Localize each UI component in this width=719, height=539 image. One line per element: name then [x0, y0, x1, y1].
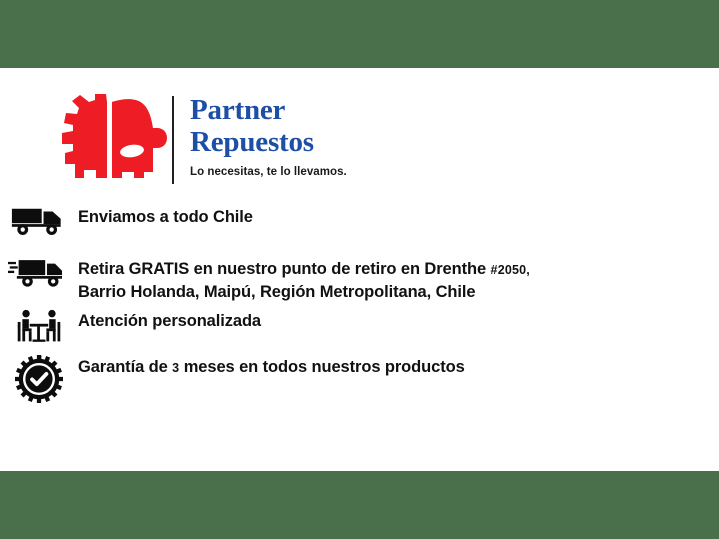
brand-logo-block: Partner Repuestos Lo necesitas, te lo ll… [60, 92, 480, 192]
gear-car-logo-icon [60, 94, 168, 186]
delivery-truck-icon [0, 205, 78, 236]
feature-row-shipping: Enviamos a todo Chile [0, 205, 719, 259]
bottom-green-band [0, 471, 719, 539]
logo-divider [172, 96, 174, 184]
brand-tagline: Lo necesitas, te lo llevamos. [190, 165, 347, 179]
warranty-text-suffix: meses en todos nuestros productos [179, 358, 464, 376]
warranty-badge-check-icon [0, 355, 78, 403]
warranty-text-prefix: Garantía de [78, 358, 172, 376]
feature-text-support: Atención personalizada [78, 309, 261, 332]
pickup-line-1-main: Retira GRATIS en nuestro punto de retiro… [78, 260, 491, 278]
top-green-band [0, 0, 719, 68]
feature-text-pickup: Retira GRATIS en nuestro punto de retiro… [78, 257, 530, 303]
brand-name-line-2: Repuestos [190, 126, 347, 158]
feature-row-warranty: Garantía de 3 meses en todos nuestros pr… [0, 355, 719, 409]
brand-name-line-1: Partner [190, 94, 347, 126]
promo-banner: Partner Repuestos Lo necesitas, te lo ll… [0, 0, 719, 539]
moving-truck-icon [0, 257, 78, 288]
feature-text-shipping: Enviamos a todo Chile [78, 205, 253, 228]
logo-wordmark: Partner Repuestos Lo necesitas, te lo ll… [190, 92, 347, 179]
people-at-table-icon [0, 309, 78, 346]
feature-text-pickup-line-1: Retira GRATIS en nuestro punto de retiro… [78, 258, 530, 281]
feature-row-pickup: Retira GRATIS en nuestro punto de retiro… [0, 257, 719, 311]
feature-text-warranty: Garantía de 3 meses en todos nuestros pr… [78, 355, 465, 379]
feature-text-pickup-line-2: Barrio Holanda, Maipú, Región Metropolit… [78, 281, 530, 303]
pickup-street-number: #2050, [491, 263, 530, 277]
